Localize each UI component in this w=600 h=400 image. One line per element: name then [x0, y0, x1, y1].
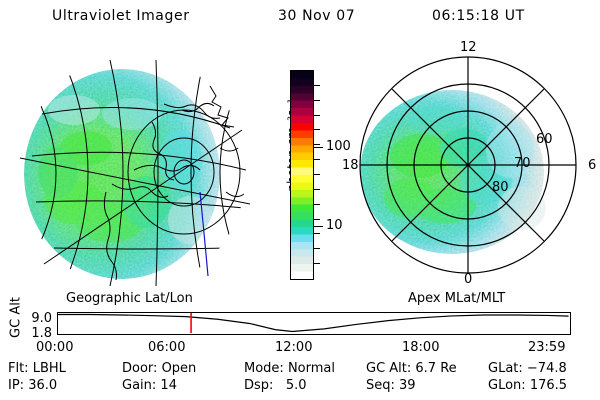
mlat-ring-label-60: 60	[536, 132, 553, 147]
mlat-ring-label-70: 70	[514, 156, 531, 171]
colorbar-minor-tick	[313, 100, 320, 101]
colorbar-minor-tick	[313, 174, 320, 175]
status-flt: Flt: LBHL	[8, 361, 66, 376]
instrument-title: Ultraviolet Imager	[52, 8, 190, 24]
geographic-panel-label: Geographic Lat/Lon	[66, 291, 193, 306]
strip-ytick-min: 1.8	[18, 326, 52, 341]
polar-grid	[360, 57, 576, 273]
mlt-label-18: 18	[342, 158, 359, 173]
status-glon: GLon: 176.5	[488, 378, 567, 393]
observation-date: 30 Nov 07	[278, 8, 355, 24]
colorbar-gradient	[291, 71, 313, 279]
colorbar-minor-tick	[313, 219, 320, 220]
colorbar-minor-tick	[313, 115, 320, 116]
colorbar-minor-tick	[313, 263, 320, 264]
colorbar-minor-tick	[313, 159, 320, 160]
header-bar: Ultraviolet Imager 30 Nov 07 06:15:18 UT	[0, 8, 600, 30]
status-gain: Gain: 14	[122, 378, 177, 393]
apex-polar-svg	[340, 40, 600, 292]
geographic-globe-svg	[14, 52, 264, 292]
apex-polar-panel[interactable]: 12 18 6 0 60 70 80	[340, 40, 600, 292]
colorbar-box[interactable]	[290, 70, 314, 280]
status-mode: Mode: Normal	[244, 361, 335, 376]
mlt-label-0: 0	[464, 272, 472, 287]
geographic-image-panel[interactable]	[14, 52, 264, 292]
mlt-label-12: 12	[460, 40, 477, 55]
strip-xtick-0: 00:00	[36, 340, 73, 355]
status-seq: Seq: 39	[366, 378, 416, 393]
status-glat: GLat: −74.8	[488, 361, 567, 376]
apex-panel-label: Apex MLat/MLT	[408, 291, 505, 306]
colorbar-minor-tick	[313, 189, 320, 190]
colorbar-major-tick-100	[313, 147, 323, 148]
mlat-ring-label-80: 80	[492, 180, 509, 195]
strip-xtick-4: 23:59	[528, 340, 565, 355]
gc-alt-trace	[58, 315, 569, 332]
colorbar-minor-tick	[313, 85, 320, 86]
strip-xtick-2: 12:00	[275, 340, 312, 355]
status-ip: IP: 36.0	[8, 378, 57, 393]
status-dsp: Dsp: 5.0	[244, 378, 307, 393]
strip-chart-box[interactable]	[57, 312, 571, 335]
status-door: Door: Open	[122, 361, 196, 376]
observation-time: 06:15:18 UT	[432, 8, 525, 24]
colorbar-panel: photon cm⁻²s⁻¹ 10010	[262, 60, 342, 292]
strip-chart-svg	[58, 313, 569, 333]
colorbar-minor-tick	[313, 248, 320, 249]
colorbar-major-tick-10	[313, 226, 323, 227]
status-row-1: Flt: LBHL Door: Open Mode: Normal GC Alt…	[0, 361, 600, 377]
colorbar-minor-tick	[313, 129, 320, 130]
colorbar-minor-tick	[313, 204, 320, 205]
status-gc-alt: GC Alt: 6.7 Re	[366, 361, 457, 376]
strip-ytick-max: 9.0	[18, 311, 52, 326]
colorbar-minor-tick	[313, 144, 320, 145]
status-row-2: IP: 36.0 Gain: 14 Dsp: 5.0 Seq: 39 GLon:…	[0, 378, 600, 394]
strip-xtick-3: 18:00	[402, 340, 439, 355]
colorbar-minor-tick	[313, 233, 320, 234]
strip-xtick-1: 06:00	[148, 340, 185, 355]
status-block: Flt: LBHL Door: Open Mode: Normal GC Alt…	[0, 361, 600, 395]
mlt-label-6: 6	[588, 158, 596, 173]
